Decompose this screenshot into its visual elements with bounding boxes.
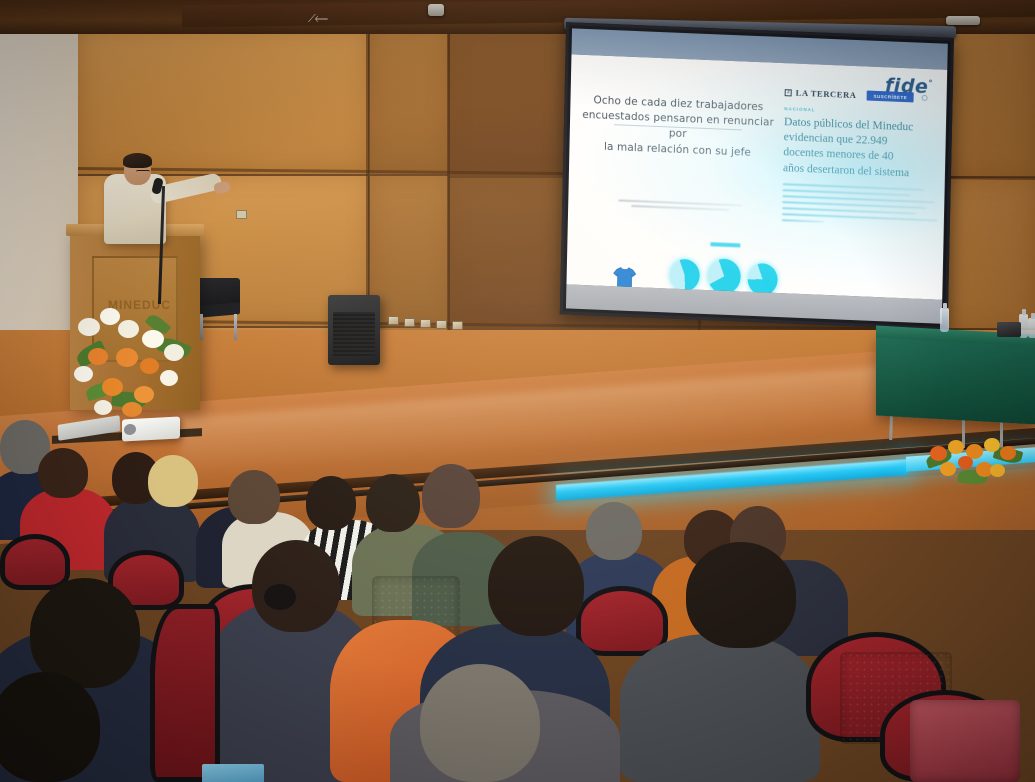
audience-head (228, 470, 280, 524)
hair-clip (264, 584, 296, 610)
chair-back[interactable] (576, 586, 668, 656)
audience-head (0, 672, 100, 782)
audience-head (38, 448, 88, 498)
audience (0, 0, 1035, 782)
audience-head (148, 455, 198, 507)
audience-head (252, 540, 340, 632)
audience-laptop-screen[interactable] (202, 764, 264, 782)
audience-head (586, 502, 642, 560)
audience-head (488, 536, 584, 636)
chair-seat[interactable] (910, 700, 1020, 782)
audience-head (422, 464, 480, 528)
chair-back[interactable] (0, 534, 70, 590)
audience-head (366, 474, 420, 532)
conference-photo: ⟋⟵ fide° Ocho de cada diez trabajadores … (0, 0, 1035, 782)
audience-head (306, 476, 356, 530)
audience-head (420, 664, 540, 782)
audience-head (686, 542, 796, 648)
chair-back[interactable] (150, 604, 220, 782)
audience-person (620, 634, 820, 782)
